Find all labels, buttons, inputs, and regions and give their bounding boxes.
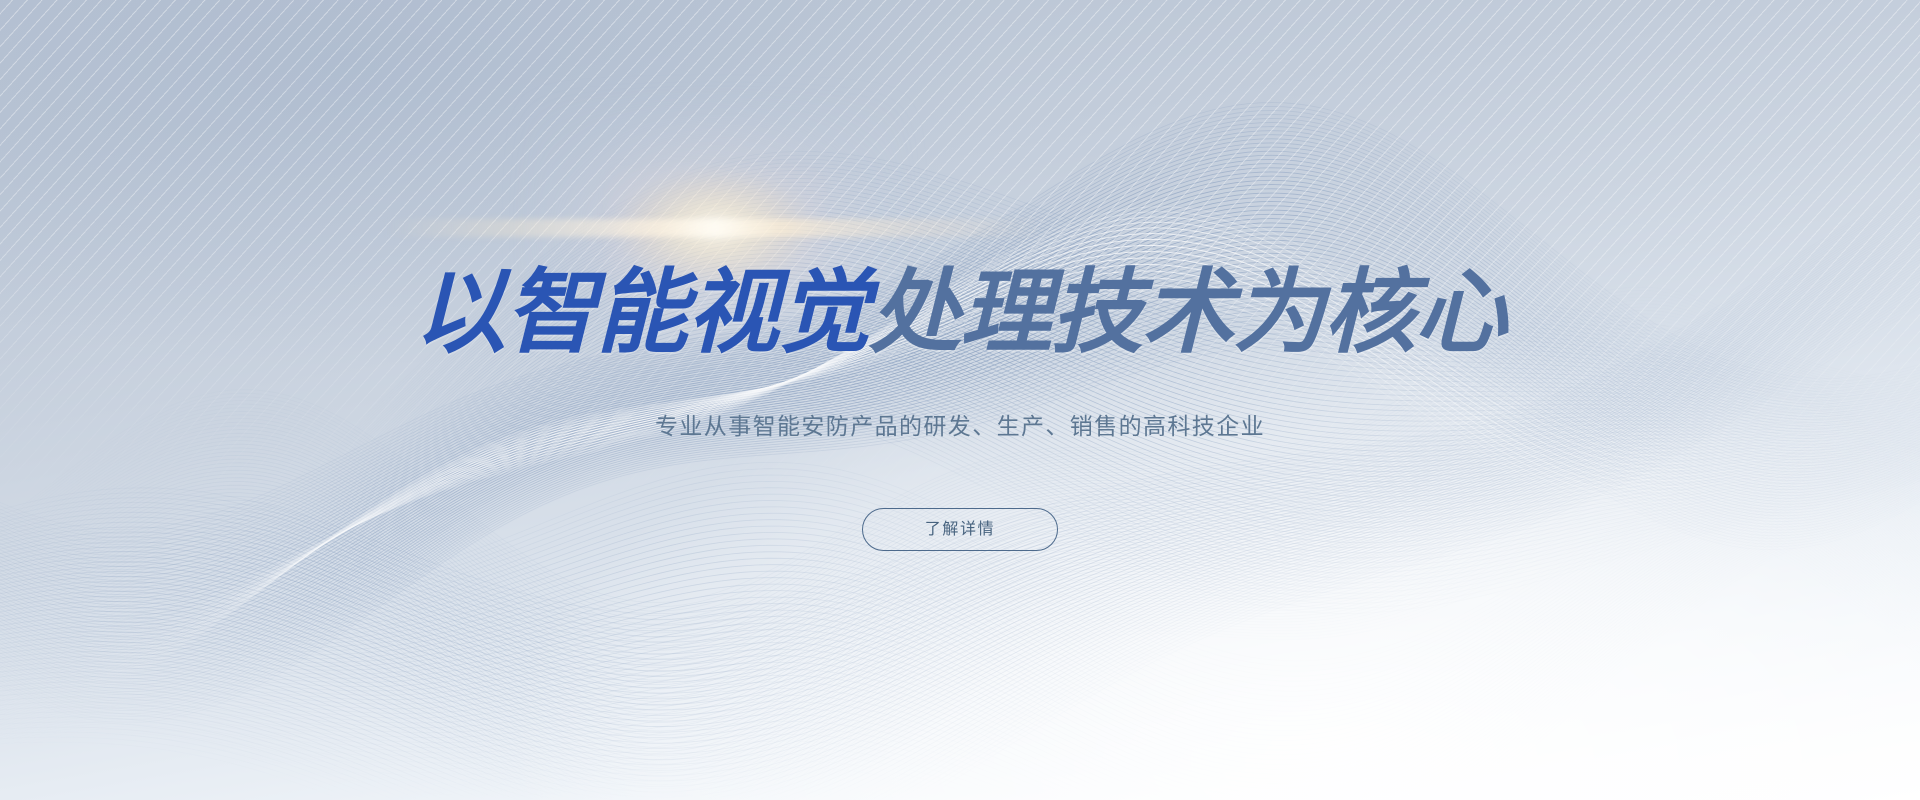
learn-more-button[interactable]: 了解详情 xyxy=(862,508,1058,551)
headline-segment-primary: 以智能视觉 xyxy=(414,259,869,366)
page-title: 以智能视觉处理技术为核心 xyxy=(0,263,1920,362)
hero-subtitle: 专业从事智能安防产品的研发、生产、销售的高科技企业 xyxy=(0,407,1920,441)
cta-container: 了解详情 xyxy=(0,508,1920,551)
hero-content: 以智能视觉处理技术为核心 专业从事智能安防产品的研发、生产、销售的高科技企业 了… xyxy=(0,0,1920,800)
headline-segment-secondary: 处理技术为核心 xyxy=(869,259,1506,366)
hero-banner: 以智能视觉处理技术为核心 专业从事智能安防产品的研发、生产、销售的高科技企业 了… xyxy=(0,0,1920,800)
